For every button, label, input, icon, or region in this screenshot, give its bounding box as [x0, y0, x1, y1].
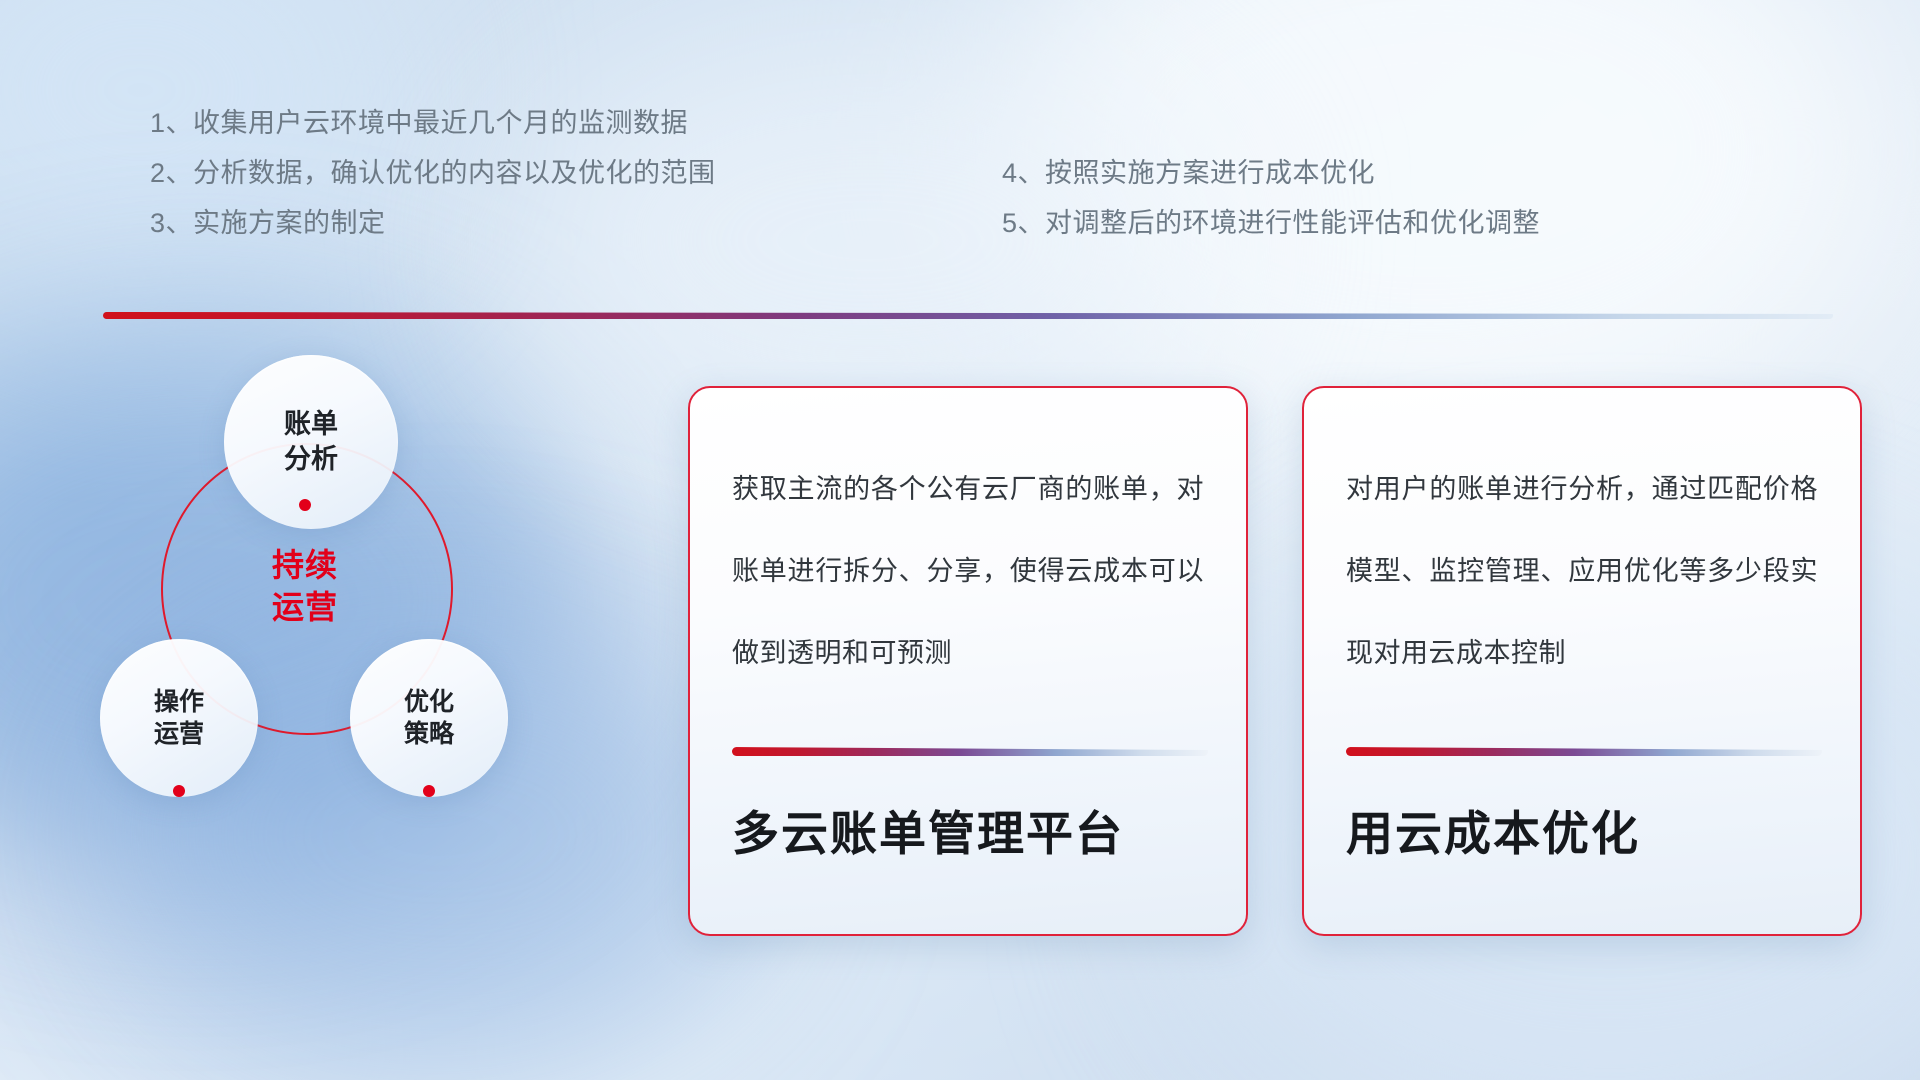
- card-body-text: 对用户的账单进行分析，通过匹配价格模型、监控管理、应用优化等多少段实现对用云成本…: [1346, 448, 1818, 694]
- connector-dot-bottom-left: [173, 785, 185, 797]
- bullet-list-right: 4、按照实施方案进行成本优化 5、对调整后的环境进行性能评估和优化调整: [1002, 148, 1540, 248]
- center-label-line2: 运营: [272, 587, 338, 629]
- card-rule: [1346, 747, 1822, 756]
- slide-canvas: 1、收集用户云环境中最近几个月的监测数据 2、分析数据，确认优化的内容以及优化的…: [0, 0, 1920, 1080]
- card-title: 多云账单管理平台: [732, 795, 1208, 864]
- connector-dot-bottom-right: [423, 785, 435, 797]
- bullet-list-left: 1、收集用户云环境中最近几个月的监测数据 2、分析数据，确认优化的内容以及优化的…: [150, 98, 716, 248]
- node-label-line1: 账单: [284, 407, 338, 442]
- section-divider: [103, 312, 1833, 319]
- bullet-item-5: 5、对调整后的环境进行性能评估和优化调整: [1002, 198, 1540, 248]
- center-label: 持续 运营: [161, 443, 449, 731]
- connector-dot-top: [299, 499, 311, 511]
- card-body-text: 获取主流的各个公有云厂商的账单，对账单进行拆分、分享，使得云成本可以做到透明和可…: [732, 448, 1204, 694]
- center-label-line1: 持续: [272, 545, 338, 587]
- card-title: 用云成本优化: [1346, 795, 1822, 864]
- feature-card-cloud-cost-optimization[interactable]: 对用户的账单进行分析，通过匹配价格模型、监控管理、应用优化等多少段实现对用云成本…: [1302, 386, 1862, 936]
- bullet-item-4: 4、按照实施方案进行成本优化: [1002, 148, 1540, 198]
- card-rule: [732, 747, 1208, 756]
- bullet-item-2: 2、分析数据，确认优化的内容以及优化的范围: [150, 148, 716, 198]
- cycle-diagram: 持续 运营 账单 分析 操作 运营 优化 策略: [100, 355, 620, 935]
- bullet-item-3: 3、实施方案的制定: [150, 198, 716, 248]
- feature-card-multicloud-billing[interactable]: 获取主流的各个公有云厂商的账单，对账单进行拆分、分享，使得云成本可以做到透明和可…: [688, 386, 1248, 936]
- bullet-item-1: 1、收集用户云环境中最近几个月的监测数据: [150, 98, 716, 148]
